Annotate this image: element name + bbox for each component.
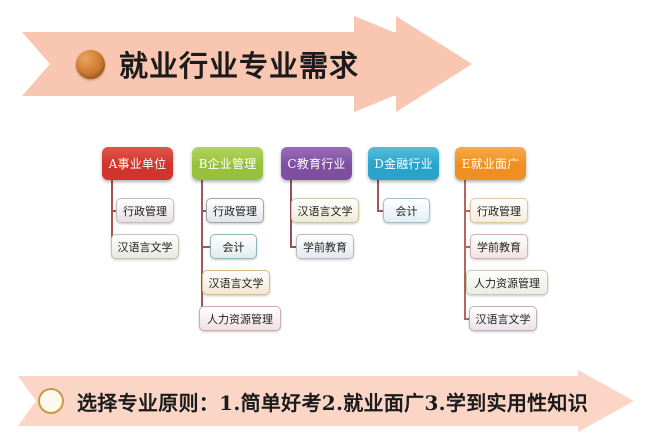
column-item-label: 学前教育 (477, 239, 521, 255)
connector-trunk (464, 180, 466, 319)
page-title: 就业行业专业需求 (119, 43, 359, 85)
slide-canvas: 就业行业专业需求 A事业单位行政管理汉语言文学B企业管理行政管理会计汉语言文学人… (0, 0, 650, 445)
bottom-banner-content: 选择专业原则：1.简单好考2.就业面广3.学到实用性知识 (18, 387, 588, 416)
column-item-E-4[interactable]: 汉语言文学 (469, 306, 537, 331)
column-item-label: 汉语言文学 (476, 311, 531, 327)
column-item-label: 行政管理 (477, 203, 521, 219)
principles-text: 选择专业原则：1.简单好考2.就业面广3.学到实用性知识 (77, 387, 588, 416)
column-item-E-2[interactable]: 学前教育 (470, 234, 528, 259)
hollow-ring-bullet-icon (38, 388, 64, 414)
top-banner-content: 就业行业专业需求 (22, 43, 359, 85)
column-header-label: E就业面广 (462, 155, 520, 172)
column-header-E[interactable]: E就业面广 (455, 147, 526, 180)
column-item-E-1[interactable]: 行政管理 (470, 198, 528, 223)
bottom-banner-arrow: 选择专业原则：1.简单好考2.就业面广3.学到实用性知识 (18, 370, 634, 432)
column-item-E-3[interactable]: 人力资源管理 (466, 270, 548, 295)
column-item-label: 人力资源管理 (474, 275, 540, 291)
filled-sphere-bullet-icon (76, 50, 105, 79)
